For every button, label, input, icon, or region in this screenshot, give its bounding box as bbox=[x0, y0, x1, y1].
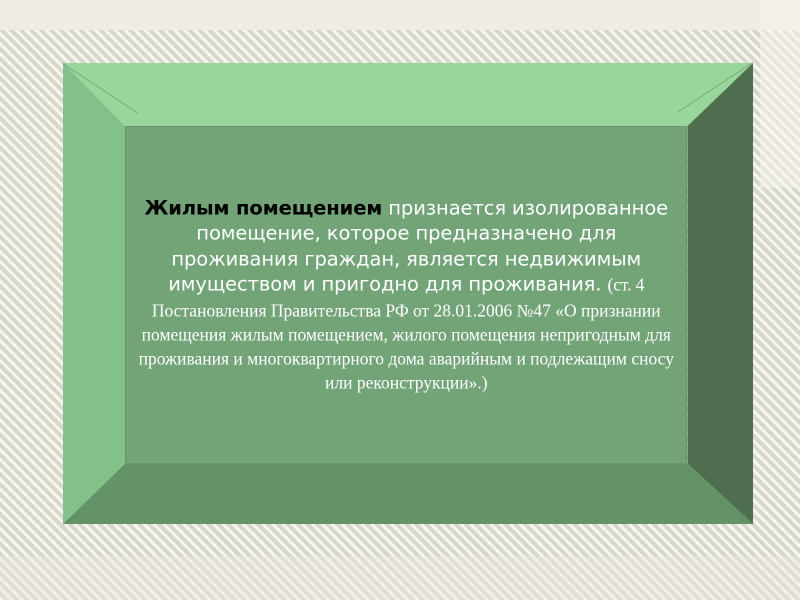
background-band-right bbox=[760, 0, 800, 188]
slide-text-block: Жилым помещением признается изолированно… bbox=[125, 195, 687, 394]
slide-canvas: Жилым помещением признается изолированно… bbox=[0, 0, 800, 600]
definition-paragraph: Жилым помещением признается изолированно… bbox=[133, 195, 679, 298]
background-band-top bbox=[0, 0, 800, 30]
beveled-frame: Жилым помещением признается изолированно… bbox=[63, 63, 753, 524]
frame-inner-panel: Жилым помещением признается изолированно… bbox=[125, 126, 687, 463]
citation-paragraph: Постановления Правительства РФ от 28.01.… bbox=[133, 298, 679, 394]
definition-lead-in-term: Жилым помещением bbox=[144, 196, 382, 219]
citation-open-text: (ст. 4 bbox=[607, 275, 644, 295]
background-band-bottom bbox=[0, 556, 800, 600]
